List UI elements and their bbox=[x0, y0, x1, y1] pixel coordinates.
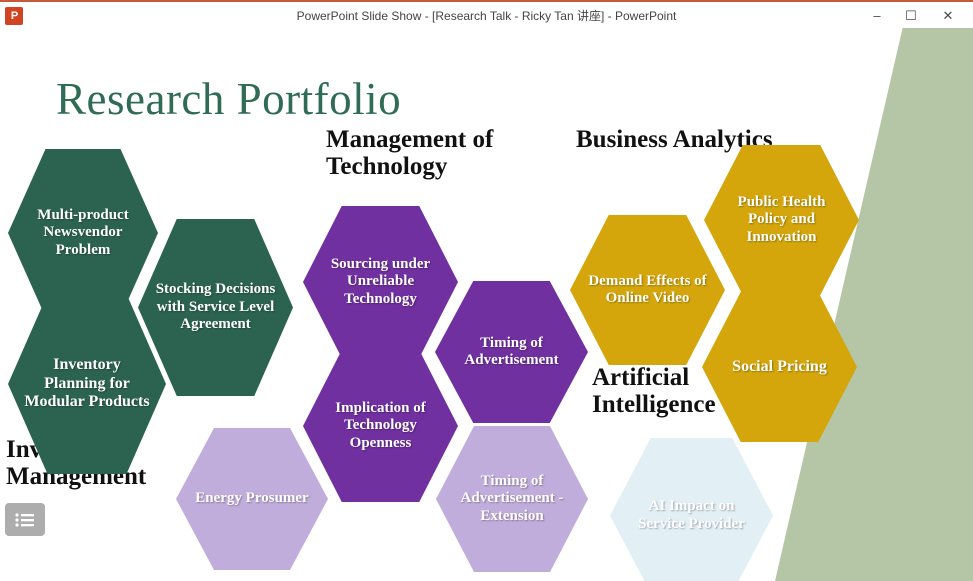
hexagon-label: AI Impact on Service Provider bbox=[610, 498, 773, 533]
list-menu-icon bbox=[14, 512, 36, 528]
hexagon-label: Timing of Advertisement bbox=[435, 335, 588, 370]
window-titlebar: P PowerPoint Slide Show - [Research Talk… bbox=[0, 0, 973, 28]
hexagon-node[interactable]: Sourcing under Unreliable Technology bbox=[303, 206, 458, 358]
hexagon-label: Sourcing under Unreliable Technology bbox=[303, 256, 458, 308]
hexagon-label: Public Health Policy and Innovation bbox=[704, 194, 859, 246]
slide-title: Research Portfolio bbox=[56, 73, 401, 125]
section-heading: Management of Technology bbox=[326, 126, 556, 180]
hexagon-node[interactable]: Demand Effects of Online Video bbox=[570, 215, 725, 365]
minimize-button[interactable]: – bbox=[860, 4, 894, 28]
powerpoint-window: P PowerPoint Slide Show - [Research Talk… bbox=[0, 0, 973, 581]
window-title: PowerPoint Slide Show - [Research Talk -… bbox=[0, 2, 973, 30]
hexagon-node[interactable]: Multi-product Newsvendor Problem bbox=[8, 149, 158, 317]
hexagon-node[interactable]: Public Health Policy and Innovation bbox=[704, 145, 859, 295]
maximize-button[interactable]: ☐ bbox=[894, 4, 928, 28]
hexagon-label: Timing of Advertisement - Extension bbox=[436, 473, 588, 525]
hexagon-label: Energy Prosumer bbox=[181, 490, 322, 507]
hexagon-label: Inventory Planning for Modular Products bbox=[8, 356, 166, 412]
hexagon-node[interactable]: Timing of Advertisement bbox=[435, 281, 588, 423]
hexagon-label: Multi-product Newsvendor Problem bbox=[8, 207, 158, 259]
hexagon-label: Implication of Technology Openness bbox=[303, 400, 458, 452]
hexagon-label: Stocking Decisions with Service Level Ag… bbox=[138, 281, 293, 333]
hexagon-node[interactable]: Timing of Advertisement - Extension bbox=[436, 426, 588, 572]
hexagon-label: Social Pricing bbox=[718, 358, 841, 377]
hexagon-node[interactable]: Stocking Decisions with Service Level Ag… bbox=[138, 219, 293, 396]
close-button[interactable]: ✕ bbox=[931, 4, 965, 28]
slideshow-menu-button[interactable] bbox=[5, 503, 45, 536]
slide-canvas[interactable]: Research Portfolio Management of Technol… bbox=[0, 28, 973, 581]
hexagon-label: Demand Effects of Online Video bbox=[570, 273, 725, 308]
hexagon-node[interactable]: Implication of Technology Openness bbox=[303, 350, 458, 502]
hexagon-node[interactable]: AI Impact on Service Provider bbox=[610, 438, 773, 581]
